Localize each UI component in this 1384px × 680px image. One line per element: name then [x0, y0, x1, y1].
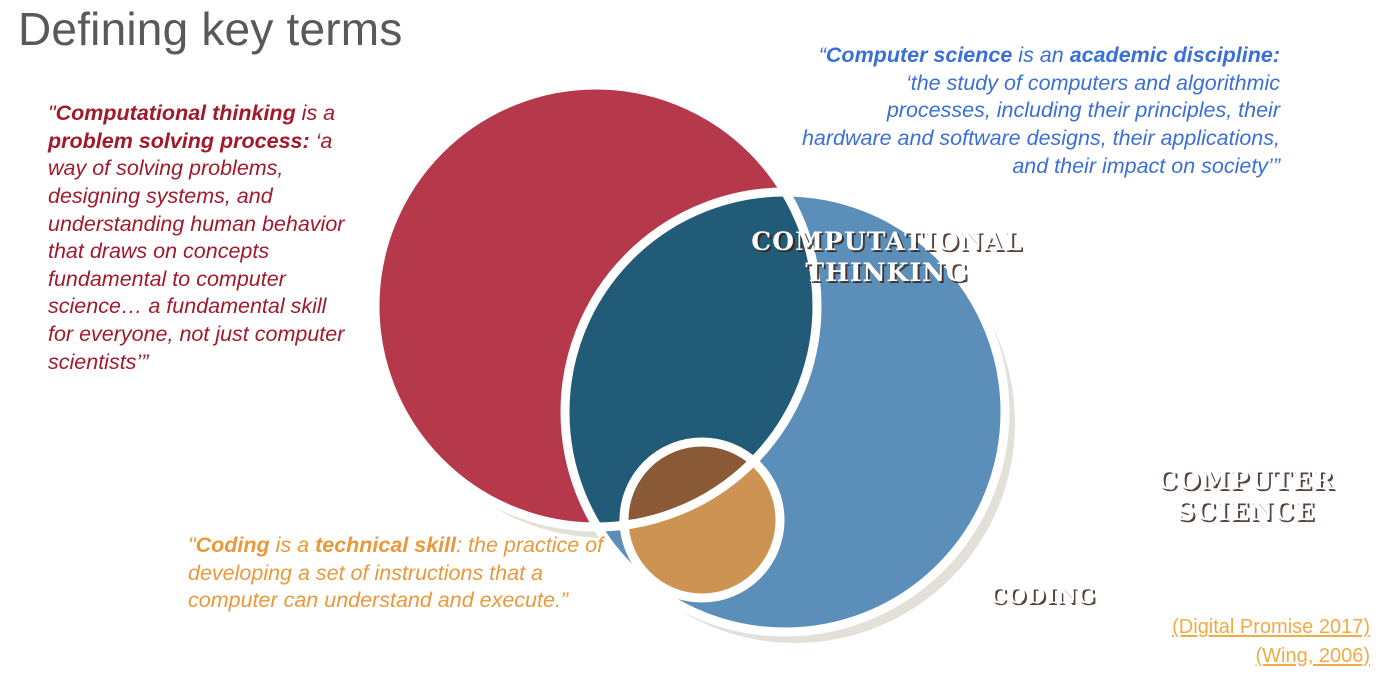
citation-link-wing[interactable]: (Wing, 2006)	[1172, 642, 1370, 670]
quote-cs-category: academic discipline:	[1070, 43, 1280, 67]
venn-label-computer-science: COMPUTER SCIENCE	[1130, 466, 1362, 527]
quote-cs-connector: is an	[1012, 43, 1069, 67]
quote-cs-open-quote: “	[819, 43, 826, 67]
citation-list: (Digital Promise 2017) (Wing, 2006)	[1172, 613, 1370, 670]
quote-computer-science: “Computer science is an academic discipl…	[800, 42, 1280, 180]
quote-ct-term: Computational thinking	[56, 101, 296, 125]
quote-ct-category: problem solving process:	[48, 129, 310, 153]
citation-link-digital-promise[interactable]: (Digital Promise 2017)	[1172, 613, 1370, 641]
quote-ct-open-quote: "	[48, 101, 56, 125]
quote-coding-category: technical skill	[315, 533, 456, 557]
quote-ct-body: ‘a way of solving problems, designing sy…	[48, 129, 344, 374]
slide-canvas: Defining key terms	[0, 0, 1384, 676]
quote-cs-term: Computer science	[826, 43, 1012, 67]
quote-ct-connector: is a	[296, 101, 335, 125]
quote-coding-open-quote: "	[188, 533, 196, 557]
quote-cs-body: ‘the study of computers and algorithmic …	[802, 71, 1280, 178]
quote-coding-connector: is a	[270, 533, 315, 557]
quote-computational-thinking: "Computational thinking is a problem sol…	[48, 100, 348, 376]
quote-coding: "Coding is a technical skill: the practi…	[188, 532, 608, 615]
page-title: Defining key terms	[18, 2, 403, 56]
quote-coding-term: Coding	[196, 533, 270, 557]
